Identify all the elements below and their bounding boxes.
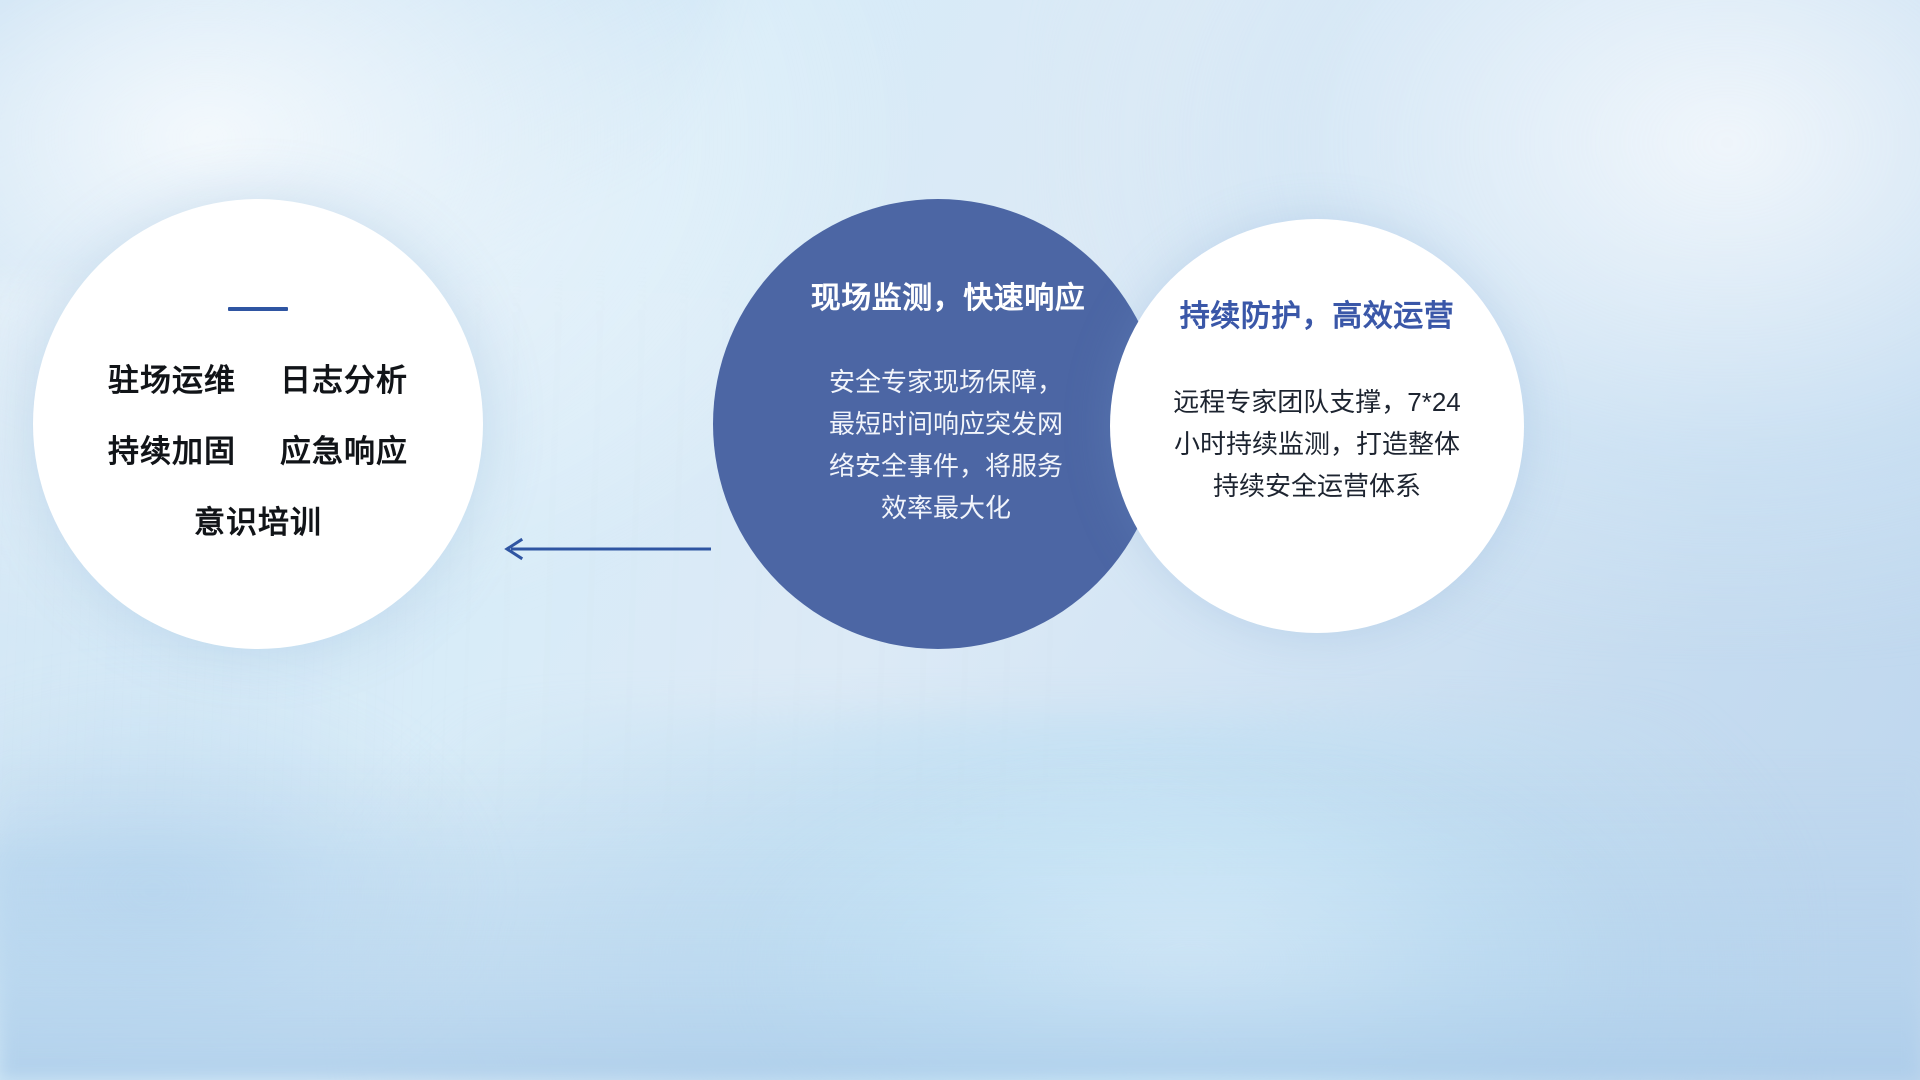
body-line: 安全专家现场保障，: [829, 361, 1063, 403]
body-line: 远程专家团队支撑，7*24: [1173, 381, 1461, 423]
capability-item: 驻场运维: [108, 355, 236, 400]
capabilities-row: 意识培训: [194, 497, 322, 542]
capability-item: 应急响应: [280, 426, 408, 471]
capabilities-list: 驻场运维 日志分析 持续加固 应急响应 意识培训: [108, 355, 408, 542]
continuous-protection-body: 远程专家团队支撑，7*24 小时持续监测，打造整体 持续安全运营体系: [1173, 381, 1461, 507]
dash-divider-icon: [228, 307, 288, 311]
capabilities-row: 持续加固 应急响应: [108, 426, 408, 471]
body-line: 小时持续监测，打造整体: [1173, 423, 1461, 465]
continuous-protection-circle: 持续防护，高效运营 远程专家团队支撑，7*24 小时持续监测，打造整体 持续安全…: [1110, 219, 1524, 633]
capability-item: 日志分析: [280, 355, 408, 400]
body-line: 效率最大化: [829, 487, 1063, 529]
onsite-monitoring-title: 现场监测，快速响应: [811, 273, 1086, 317]
onsite-monitoring-circle: 现场监测，快速响应 安全专家现场保障， 最短时间响应突发网 络安全事件，将服务 …: [713, 199, 1163, 649]
body-line: 最短时间响应突发网: [829, 403, 1063, 445]
capabilities-row: 驻场运维 日志分析: [108, 355, 408, 400]
capability-item: 持续加固: [108, 426, 236, 471]
capabilities-circle: 驻场运维 日志分析 持续加固 应急响应 意识培训: [33, 199, 483, 649]
arrow-left-icon: [497, 536, 712, 562]
onsite-monitoring-body: 安全专家现场保障， 最短时间响应突发网 络安全事件，将服务 效率最大化: [829, 361, 1063, 529]
continuous-protection-title: 持续防护，高效运营: [1180, 291, 1455, 335]
capability-item: 意识培训: [194, 497, 322, 542]
body-line: 持续安全运营体系: [1173, 465, 1461, 507]
body-line: 络安全事件，将服务: [829, 445, 1063, 487]
background-bottom-band: [0, 756, 1920, 1080]
